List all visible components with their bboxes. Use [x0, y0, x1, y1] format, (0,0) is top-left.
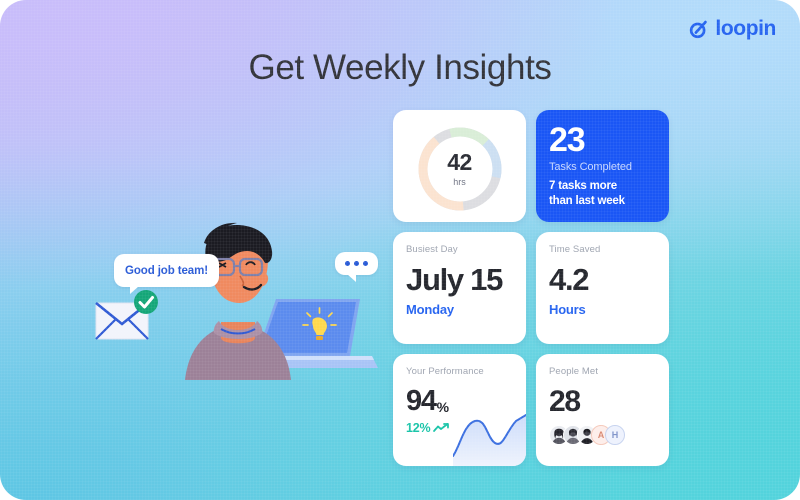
card-busiest-day[interactable]: Busiest Day July 15 Monday: [393, 232, 526, 344]
loopin-circle-mark-icon: [688, 19, 709, 40]
performance-value: 94: [406, 389, 436, 415]
card-meeting-hours[interactable]: 42 hrs 1:1 External Internal: [393, 110, 526, 222]
busiest-day-weekday: Monday: [406, 302, 513, 317]
time-saved-label: Time Saved: [549, 244, 656, 255]
speech-bubble-message: Good job team!: [114, 254, 219, 287]
donut-chart-icon: 42 hrs: [414, 123, 506, 215]
people-met-value: 28: [549, 387, 656, 417]
time-saved-unit: Hours: [549, 302, 656, 317]
hero-illustration: Good job team!: [88, 215, 378, 380]
tasks-note-line-2: than last week: [549, 194, 625, 209]
busiest-day-value: July 15: [406, 264, 513, 295]
performance-label: Your Performance: [406, 366, 513, 377]
people-met-label: People Met: [549, 366, 656, 377]
avatar-stack: A H: [549, 425, 656, 445]
performance-value-suffix: %: [437, 399, 449, 415]
brand-name: loopin: [715, 17, 776, 41]
card-tasks-completed[interactable]: 23 Tasks Completed 7 tasks more than las…: [536, 110, 669, 222]
trend-up-icon: [433, 423, 449, 433]
stats-card-grid: 42 hrs 1:1 External Internal: [393, 110, 669, 466]
area-sparkline-icon: [453, 410, 526, 466]
performance-delta-value: 12%: [406, 421, 430, 435]
brand-logo: loopin: [688, 17, 776, 41]
time-saved-value: 4.2: [549, 264, 656, 295]
meeting-hours-unit: hrs: [453, 177, 466, 187]
card-time-saved[interactable]: Time Saved 4.2 Hours: [536, 232, 669, 344]
tasks-completed-label: Tasks Completed: [549, 161, 656, 173]
page-title: Get Weekly Insights: [0, 48, 800, 88]
ellipsis-dot-icon: [345, 261, 350, 266]
avatar-initial-h[interactable]: H: [605, 425, 625, 445]
speech-bubble-text: Good job team!: [125, 265, 208, 277]
tasks-completed-note: 7 tasks more than last week: [549, 179, 625, 209]
card-your-performance[interactable]: Your Performance 94 % 12%: [393, 354, 526, 466]
insights-canvas: loopin Get Weekly Insights: [0, 0, 800, 500]
card-people-met[interactable]: People Met 28: [536, 354, 669, 466]
tasks-note-line-1: 7 tasks more: [549, 179, 625, 194]
person-at-laptop-illustration: [88, 215, 378, 380]
ellipsis-dot-icon: [354, 261, 359, 266]
meeting-hours-value: 42: [447, 151, 472, 174]
ellipsis-dot-icon: [363, 261, 368, 266]
busiest-day-label: Busiest Day: [406, 244, 513, 255]
typing-bubble: [335, 252, 378, 275]
tasks-completed-value: 23: [549, 124, 656, 156]
